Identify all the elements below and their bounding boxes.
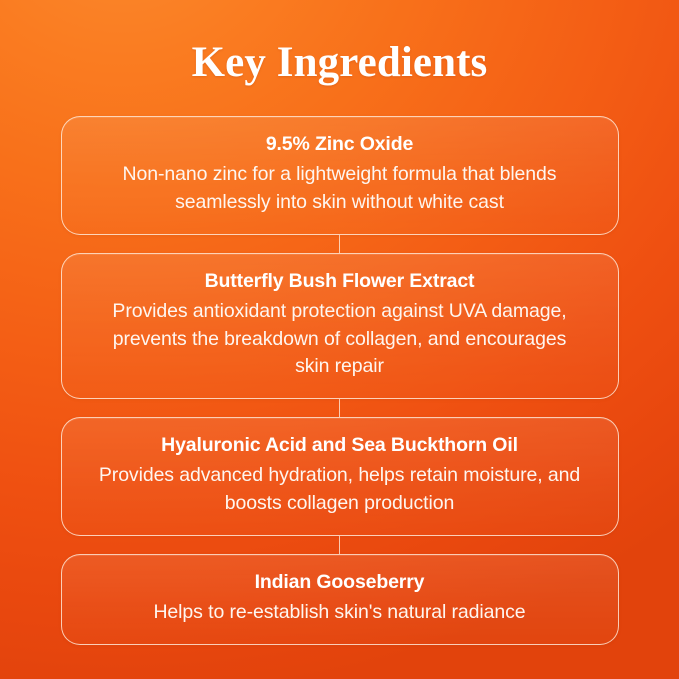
page-title: Key Ingredients bbox=[192, 41, 488, 84]
ingredient-card-zinc-oxide: 9.5% Zinc Oxide Non-nano zinc for a ligh… bbox=[61, 116, 619, 235]
ingredient-card-indian-gooseberry: Indian Gooseberry Helps to re-establish … bbox=[61, 554, 619, 645]
ingredient-description: Provides advanced hydration, helps retai… bbox=[97, 462, 583, 517]
ingredient-description: Provides antioxidant protection against … bbox=[106, 298, 574, 381]
ingredient-card-hyaluronic-acid-sea-buckthorn-oil: Hyaluronic Acid and Sea Buckthorn Oil Pr… bbox=[61, 417, 619, 536]
ingredient-description: Non-nano zinc for a lightweight formula … bbox=[97, 161, 583, 216]
ingredient-heading: Indian Gooseberry bbox=[88, 568, 592, 596]
ingredient-card-butterfly-bush-flower-extract: Butterfly Bush Flower Extract Provides a… bbox=[61, 253, 619, 399]
ingredient-heading: Hyaluronic Acid and Sea Buckthorn Oil bbox=[88, 431, 592, 459]
card-connector-line bbox=[339, 536, 340, 554]
ingredient-heading: Butterfly Bush Flower Extract bbox=[88, 267, 592, 295]
ingredient-card-stack: 9.5% Zinc Oxide Non-nano zinc for a ligh… bbox=[61, 116, 619, 645]
card-connector-line bbox=[339, 235, 340, 253]
ingredient-description: Helps to re-establish skin's natural rad… bbox=[90, 599, 590, 627]
key-ingredients-poster: Key Ingredients 9.5% Zinc Oxide Non-nano… bbox=[0, 0, 679, 679]
ingredient-heading: 9.5% Zinc Oxide bbox=[88, 130, 592, 158]
card-connector-line bbox=[339, 399, 340, 417]
